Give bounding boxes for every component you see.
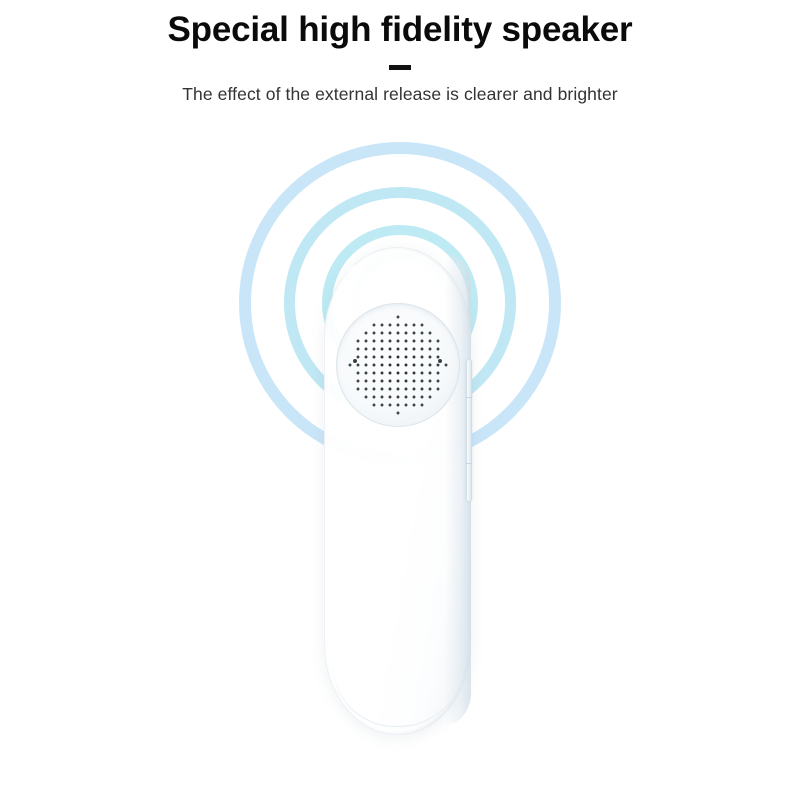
speaker-grille-icon xyxy=(344,311,452,419)
sensor-dot-right xyxy=(438,359,442,363)
side-button-seam-top xyxy=(466,397,472,398)
sensor-dot-left xyxy=(353,359,357,363)
side-button-seam-bottom xyxy=(466,463,472,464)
speaker-device-body xyxy=(324,247,471,735)
speaker-grille-plate xyxy=(336,303,460,427)
device-bottom-seam xyxy=(333,643,462,727)
product-feature-banner: Special high fidelity speaker The effect… xyxy=(0,0,800,800)
product-stage xyxy=(0,0,800,800)
side-button-rail[interactable] xyxy=(466,359,472,502)
